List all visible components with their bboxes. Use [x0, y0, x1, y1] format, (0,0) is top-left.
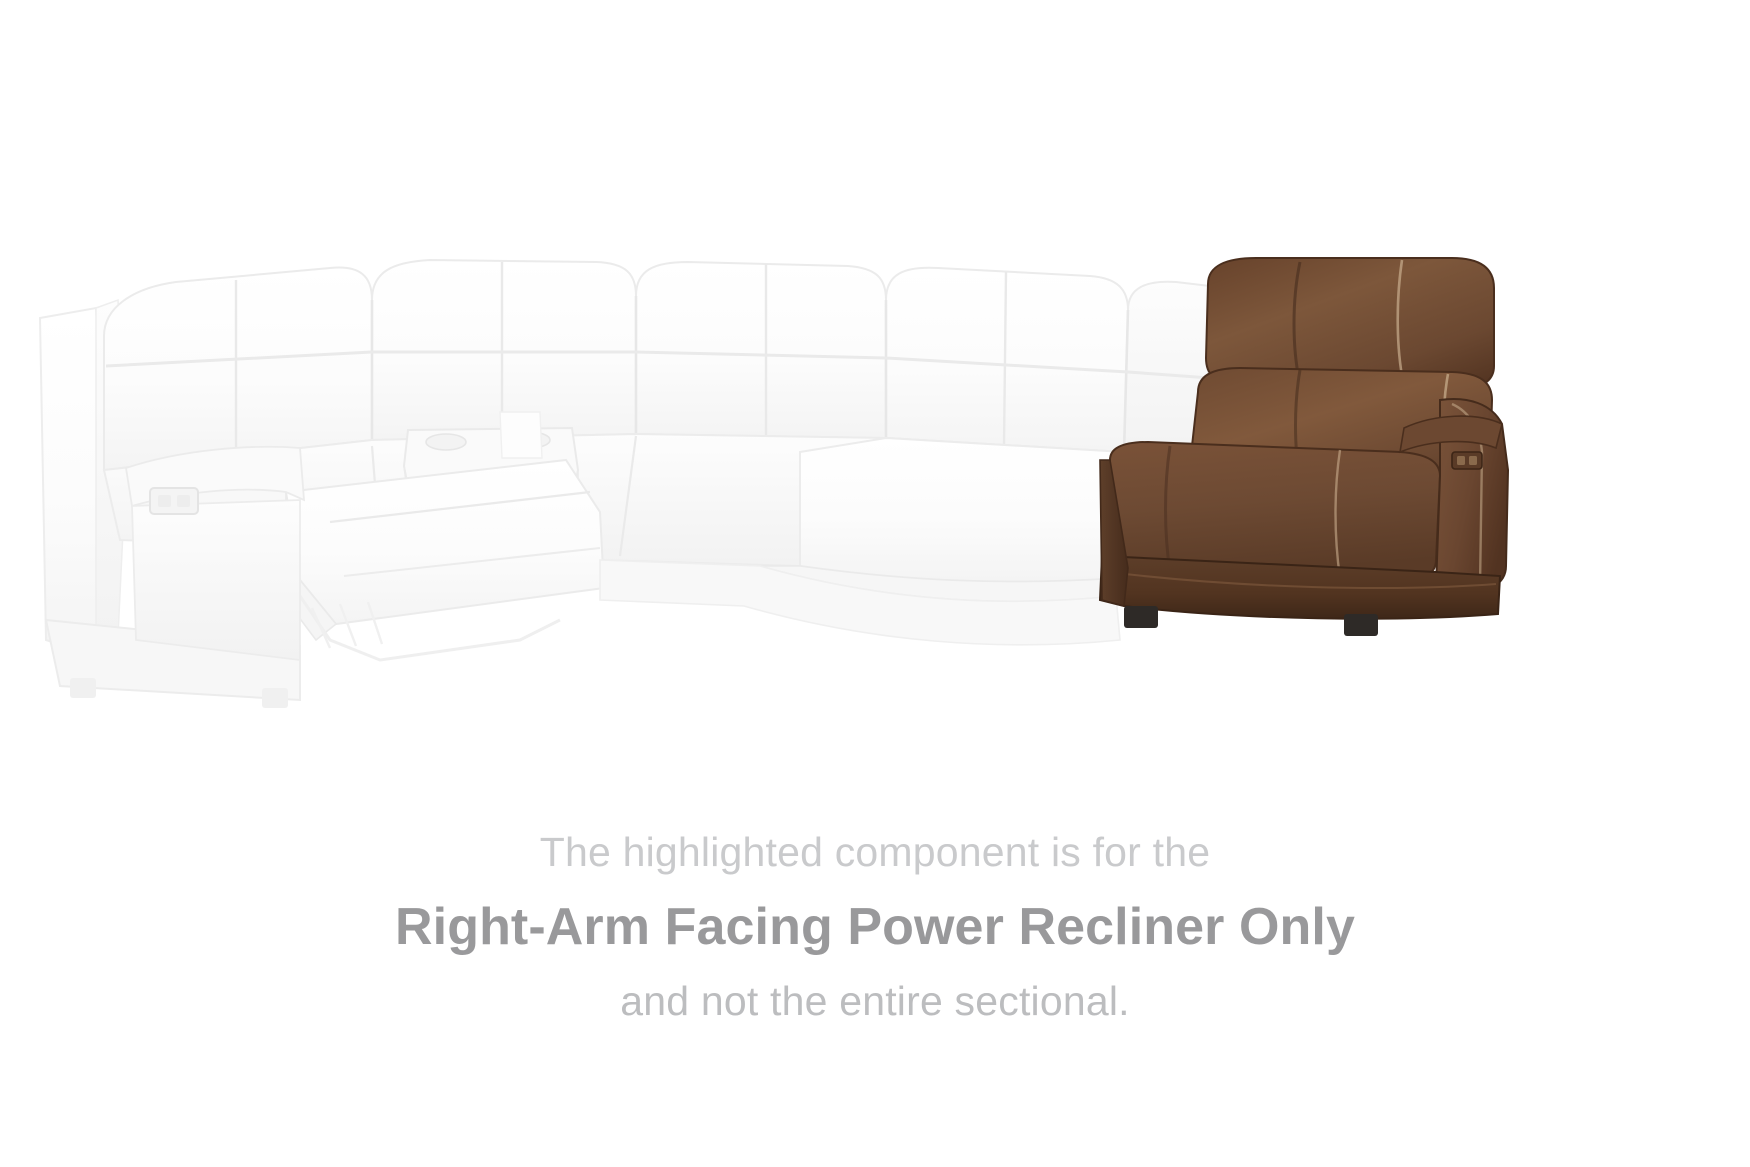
ghost-foot-2 [262, 688, 288, 708]
raf-foot-right [1344, 614, 1378, 636]
caption-line-1: The highlighted component is for the [0, 822, 1750, 873]
ghost-backrest-1 [104, 268, 372, 470]
power-button-left-plate [150, 488, 198, 514]
power-button-right-key-a [1457, 456, 1465, 465]
cup-holder-left [426, 434, 466, 450]
power-button-right-arm[interactable] [1452, 452, 1482, 469]
power-button-left-arm[interactable] [150, 488, 198, 514]
ghosted-laf-armrest [126, 447, 304, 660]
ghost-corner-seat [800, 438, 1124, 582]
caption-block: The highlighted component is for the Rig… [0, 822, 1750, 1022]
power-button-left-key-a [158, 495, 171, 507]
caption-line-3: and not the entire sectional. [0, 953, 1750, 1022]
laf-arm-front-panel [132, 500, 300, 660]
ghosted-corner-wedge [760, 438, 1124, 601]
sectional-sofa-illustration [0, 0, 1750, 820]
ghost-foot-1 [70, 678, 96, 698]
power-button-right-plate [1452, 452, 1482, 469]
laf-outer-arm-panel [40, 308, 104, 648]
ghost-backrest-3 [636, 262, 886, 438]
raf-foot-left [1124, 606, 1158, 628]
caption-headline: Right-Arm Facing Power Recliner Only [0, 873, 1750, 953]
glass-tumbler [500, 412, 542, 458]
power-button-left-key-b [177, 495, 190, 507]
power-button-right-key-b [1469, 456, 1477, 465]
